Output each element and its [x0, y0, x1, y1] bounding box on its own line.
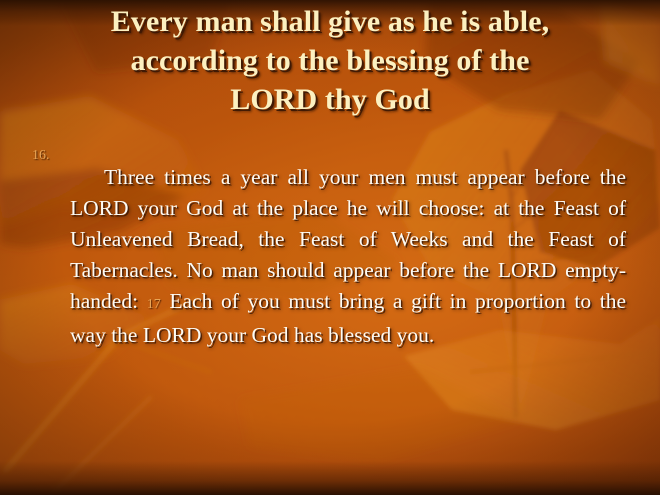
bottom-shade-band: [0, 461, 660, 495]
verse-paragraph: Three times a year all your men must app…: [70, 162, 626, 351]
slide-title: Every man shall give as he is able, acco…: [28, 2, 632, 119]
verse-marker-16: 16.: [32, 140, 70, 171]
title-line-2: according to the blessing of the: [28, 41, 632, 80]
title-line-1: Every man shall give as he is able,: [28, 2, 632, 41]
slide-body: 16. Three times a year all your men must…: [32, 140, 626, 372]
verse-marker-17: 17: [147, 297, 161, 312]
presentation-slide: Every man shall give as he is able, acco…: [0, 0, 660, 495]
title-line-3: LORD thy God: [28, 80, 632, 119]
